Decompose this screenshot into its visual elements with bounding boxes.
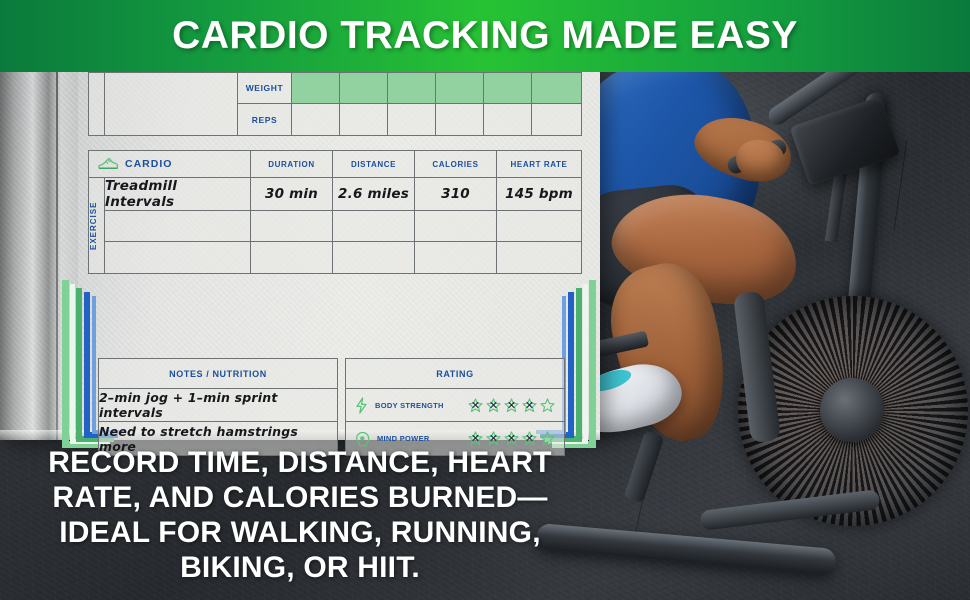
notes-line[interactable]: 2–min jog + 1–min sprint intervals — [99, 389, 337, 422]
rating-stars-body-strength[interactable]: ✕ ✕ ✕ ✕ — [468, 398, 555, 413]
cardio-column-header-calories: CALORIES — [415, 151, 497, 178]
caption-line: RECORD TIME, DISTANCE, HEART — [48, 445, 551, 480]
star-filled[interactable]: ✕ — [504, 398, 519, 413]
star-mark: ✕ — [504, 398, 519, 413]
cardio-cell-duration[interactable] — [251, 242, 333, 273]
cardio-cell-calories[interactable] — [415, 211, 497, 242]
notes-header: NOTES / NUTRITION — [99, 359, 337, 389]
reps-cell[interactable] — [292, 104, 340, 135]
cardio-cell-duration[interactable]: 30 min — [251, 178, 333, 211]
cardio-cell-distance[interactable]: 2.6 miles — [333, 178, 415, 211]
strength-row-label-reps: REPS — [238, 104, 292, 135]
caption-line: RATE, AND CALORIES BURNED— — [52, 480, 547, 515]
workout-journal-page: WEIGHT REPS — [0, 68, 600, 440]
reps-cell[interactable] — [340, 104, 388, 135]
reps-cell[interactable] — [532, 104, 581, 135]
star-filled[interactable]: ✕ — [522, 398, 537, 413]
cardio-section-header: CARDIO — [89, 151, 251, 178]
strength-side-column — [89, 73, 105, 135]
weight-cell[interactable] — [484, 73, 532, 104]
caption-line: IDEAL FOR WALKING, RUNNING, — [59, 515, 541, 550]
caption-line: BIKING, OR HIIT. — [180, 550, 420, 585]
strength-table: WEIGHT REPS — [88, 72, 582, 136]
cardio-cell-exercise[interactable] — [105, 211, 251, 242]
cardio-column-header-distance: DISTANCE — [333, 151, 415, 178]
cardio-column-header-duration: DURATION — [251, 151, 333, 178]
reps-cell[interactable] — [484, 104, 532, 135]
weight-cell[interactable] — [340, 73, 388, 104]
star-mark: ✕ — [522, 398, 537, 413]
top-banner: CARDIO TRACKING MADE EASY — [0, 0, 970, 72]
star-mark: ✕ — [486, 398, 501, 413]
cardio-cell-duration[interactable] — [251, 211, 333, 242]
lightning-bolt-icon — [355, 397, 368, 414]
weight-cell[interactable] — [292, 73, 340, 104]
weight-cell[interactable] — [532, 73, 581, 104]
cardio-cell-distance[interactable] — [333, 211, 415, 242]
rating-label: BODY STRENGTH — [375, 389, 461, 421]
weight-cell[interactable] — [388, 73, 436, 104]
star-filled[interactable]: ✕ — [468, 398, 483, 413]
running-shoe-icon — [98, 157, 118, 171]
cardio-cell-heart-rate[interactable]: 145 bpm — [497, 178, 581, 211]
book-spine-line — [56, 68, 58, 440]
weight-cell[interactable] — [436, 73, 484, 104]
reps-cell[interactable] — [388, 104, 436, 135]
cardio-cell-distance[interactable] — [333, 242, 415, 273]
strength-row-label-weight: WEIGHT — [238, 73, 292, 104]
cardio-side-label-exercise: EXERCISE — [89, 178, 105, 273]
rating-header: RATING — [346, 359, 564, 389]
strength-exercise-column — [105, 73, 238, 135]
cardio-cell-exercise[interactable]: Treadmill Intervals — [105, 178, 251, 211]
bottom-caption-block: RECORD TIME, DISTANCE, HEART RATE, AND C… — [0, 430, 600, 600]
cardio-cell-heart-rate[interactable] — [497, 242, 581, 273]
rating-row-body-strength[interactable]: BODY STRENGTH ✕ ✕ ✕ ✕ — [346, 389, 564, 422]
page-title: CARDIO TRACKING MADE EASY — [172, 14, 798, 58]
cardio-section-title: CARDIO — [125, 151, 172, 177]
star-filled[interactable]: ✕ — [486, 398, 501, 413]
cardio-cell-exercise[interactable] — [105, 242, 251, 273]
bike-fan-hub — [820, 378, 884, 442]
reps-cell[interactable] — [436, 104, 484, 135]
cardio-table: CARDIO DURATION DISTANCE CALORIES HEART … — [88, 150, 582, 274]
star-mark: ✕ — [468, 398, 483, 413]
star-empty[interactable] — [540, 398, 555, 413]
cardio-column-header-heart-rate: HEART RATE — [497, 151, 581, 178]
cardio-cell-calories[interactable]: 310 — [415, 178, 497, 211]
cardio-cell-calories[interactable] — [415, 242, 497, 273]
cardio-cell-heart-rate[interactable] — [497, 211, 581, 242]
poster-canvas: WEIGHT REPS — [0, 0, 970, 600]
